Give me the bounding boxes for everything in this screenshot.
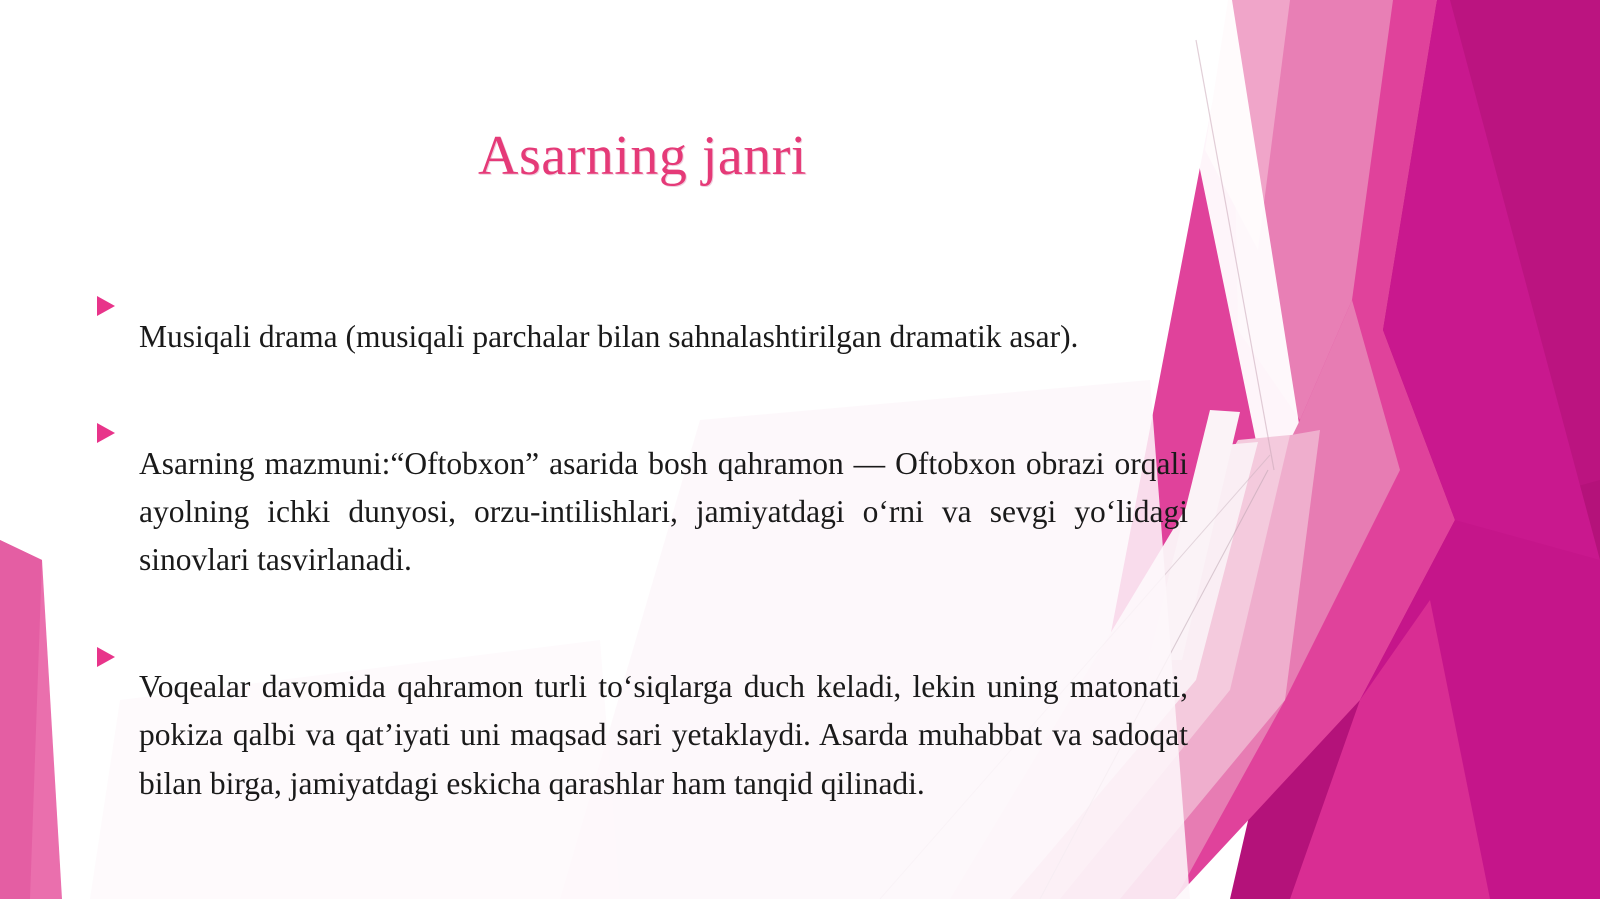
decor-left-wedge [0, 540, 62, 899]
decor-white-sliver-upper [1196, 0, 1300, 470]
bullet-list: Musiqali drama (musiqali parchalar bilan… [96, 281, 1188, 855]
decor-right-magenta-plate [1383, 0, 1600, 520]
decor-bright-pink-facet [1330, 0, 1600, 899]
decor-left-wedge-shade [0, 540, 42, 899]
play-triangle-icon [96, 422, 116, 444]
page-title: Asarning janri [478, 126, 807, 188]
title-block: Asarning janri [0, 88, 1285, 225]
decor-lower-bright-shard [1290, 600, 1490, 899]
list-item: Asarning mazmuni:“Oftobxon” asarida bosh… [96, 408, 1188, 616]
list-item: Musiqali drama (musiqali parchalar bilan… [96, 281, 1188, 392]
play-triangle-icon [96, 646, 116, 668]
bullet-text: Musiqali drama (musiqali parchalar bilan… [139, 313, 1188, 361]
play-triangle-icon [96, 295, 116, 317]
decor-lower-magenta-shard [1300, 520, 1600, 899]
bullet-text: Asarning mazmuni:“Oftobxon” asarida bosh… [139, 440, 1188, 585]
decor-right-deep-magenta [1230, 0, 1600, 899]
presentation-slide: Asarning janri Musiqali drama (musiqali … [0, 0, 1600, 899]
bullet-text: Voqealar davomida qahramon turli to‘siql… [139, 663, 1188, 808]
list-item: Voqealar davomida qahramon turli to‘siql… [96, 632, 1188, 840]
